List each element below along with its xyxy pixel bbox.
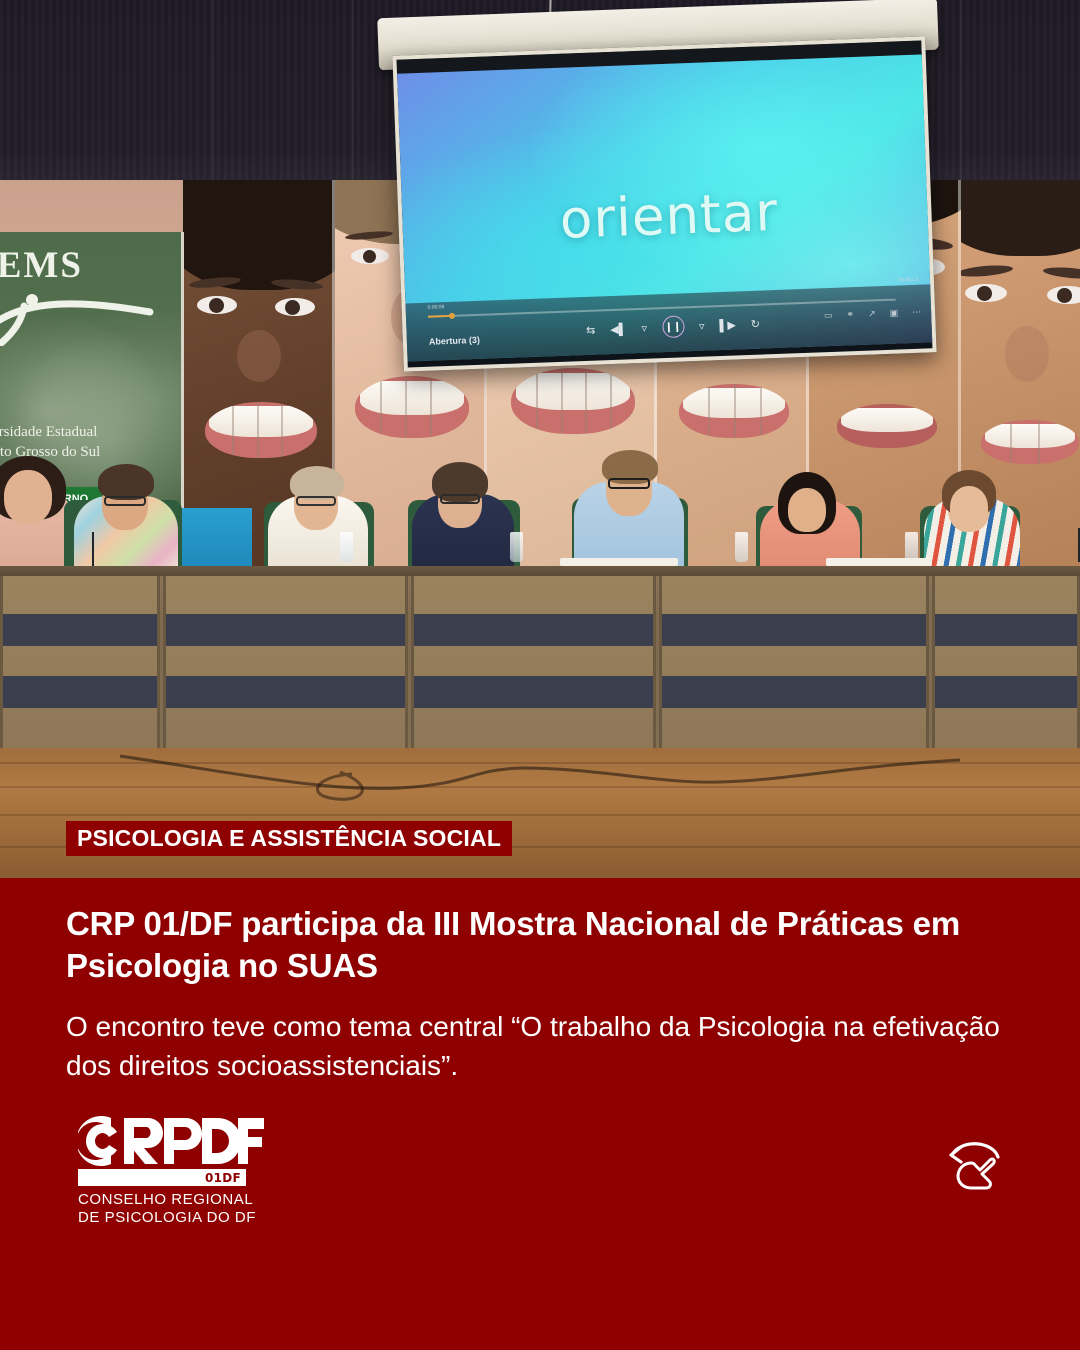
repeat-icon[interactable]: ↻ xyxy=(751,317,761,330)
stage-floor xyxy=(0,748,1080,878)
swipe-tap-gesture-icon[interactable] xyxy=(942,1131,1008,1197)
panel-table xyxy=(0,566,1080,756)
floor-cables xyxy=(0,748,1080,878)
logo-subtitle-line2: DE PSICOLOGIA DO DF xyxy=(78,1209,318,1227)
pause-icon[interactable]: ❙❙ xyxy=(662,315,685,338)
panelist xyxy=(258,456,378,572)
crp-df-logo: 01DF CONSELHO REGIONAL DE PSICOLOGIA DO … xyxy=(78,1116,318,1226)
captions-icon[interactable]: ▿ xyxy=(699,319,705,332)
more-icon[interactable]: ⋯ xyxy=(912,307,921,318)
panelist xyxy=(564,444,694,572)
eyeglasses-icon xyxy=(608,478,650,489)
text-panel: CRP 01/DF participa da III Mostra Nacion… xyxy=(0,878,1080,1350)
subheadline: O encontro teve como tema central “O tra… xyxy=(66,1008,1006,1085)
category-tag-label: PSICOLOGIA E ASSISTÊNCIA SOCIAL xyxy=(77,825,501,852)
volume-icon[interactable]: ▿ xyxy=(641,321,647,334)
social-media-post-card: UEMS Universidade Estadual de Mato Gross… xyxy=(0,0,1080,1350)
previous-icon[interactable]: ◀▌ xyxy=(610,322,627,336)
panelist xyxy=(400,454,526,572)
time-elapsed: 0:00:08 xyxy=(428,304,445,311)
panelist xyxy=(916,460,1026,572)
projection-screen: orientar 0:00:08 00:05:13 Abertura (3) ⇆… xyxy=(392,36,936,371)
uems-swoosh-icon xyxy=(0,294,154,346)
logo-badge-bar: 01DF xyxy=(78,1169,246,1186)
eyeglasses-icon xyxy=(296,496,336,506)
panelist xyxy=(752,460,868,572)
headline: CRP 01/DF participa da III Mostra Nacion… xyxy=(66,903,1016,987)
panelist xyxy=(58,452,188,572)
link-icon[interactable]: ⚭ xyxy=(846,309,854,320)
crp-df-wordmark-icon xyxy=(78,1116,264,1166)
fullscreen-icon[interactable]: ↗ xyxy=(868,308,876,319)
screen-icon[interactable]: ▭ xyxy=(824,310,833,321)
projection-title: orientar xyxy=(402,176,937,256)
logo-subtitle: CONSELHO REGIONAL DE PSICOLOGIA DO DF xyxy=(78,1191,318,1226)
logo-subtitle-line1: CONSELHO REGIONAL xyxy=(78,1191,318,1209)
category-tag: PSICOLOGIA E ASSISTÊNCIA SOCIAL xyxy=(66,821,512,856)
uems-title: UEMS xyxy=(0,244,83,287)
next-icon[interactable]: ▌▶ xyxy=(719,318,736,332)
logo-badge-label: 01DF xyxy=(205,1171,241,1185)
shuffle-icon[interactable]: ⇆ xyxy=(586,323,596,336)
picture-in-picture-icon[interactable]: ▣ xyxy=(889,308,898,319)
eyeglasses-icon xyxy=(104,496,146,506)
eyeglasses-icon xyxy=(440,494,480,504)
video-player-bar: 0:00:08 00:05:13 Abertura (3) ⇆ ◀▌ ▿ ❙❙ … xyxy=(405,284,936,361)
time-total: 00:05:13 xyxy=(898,277,918,284)
event-photograph: UEMS Universidade Estadual de Mato Gross… xyxy=(0,0,1080,878)
